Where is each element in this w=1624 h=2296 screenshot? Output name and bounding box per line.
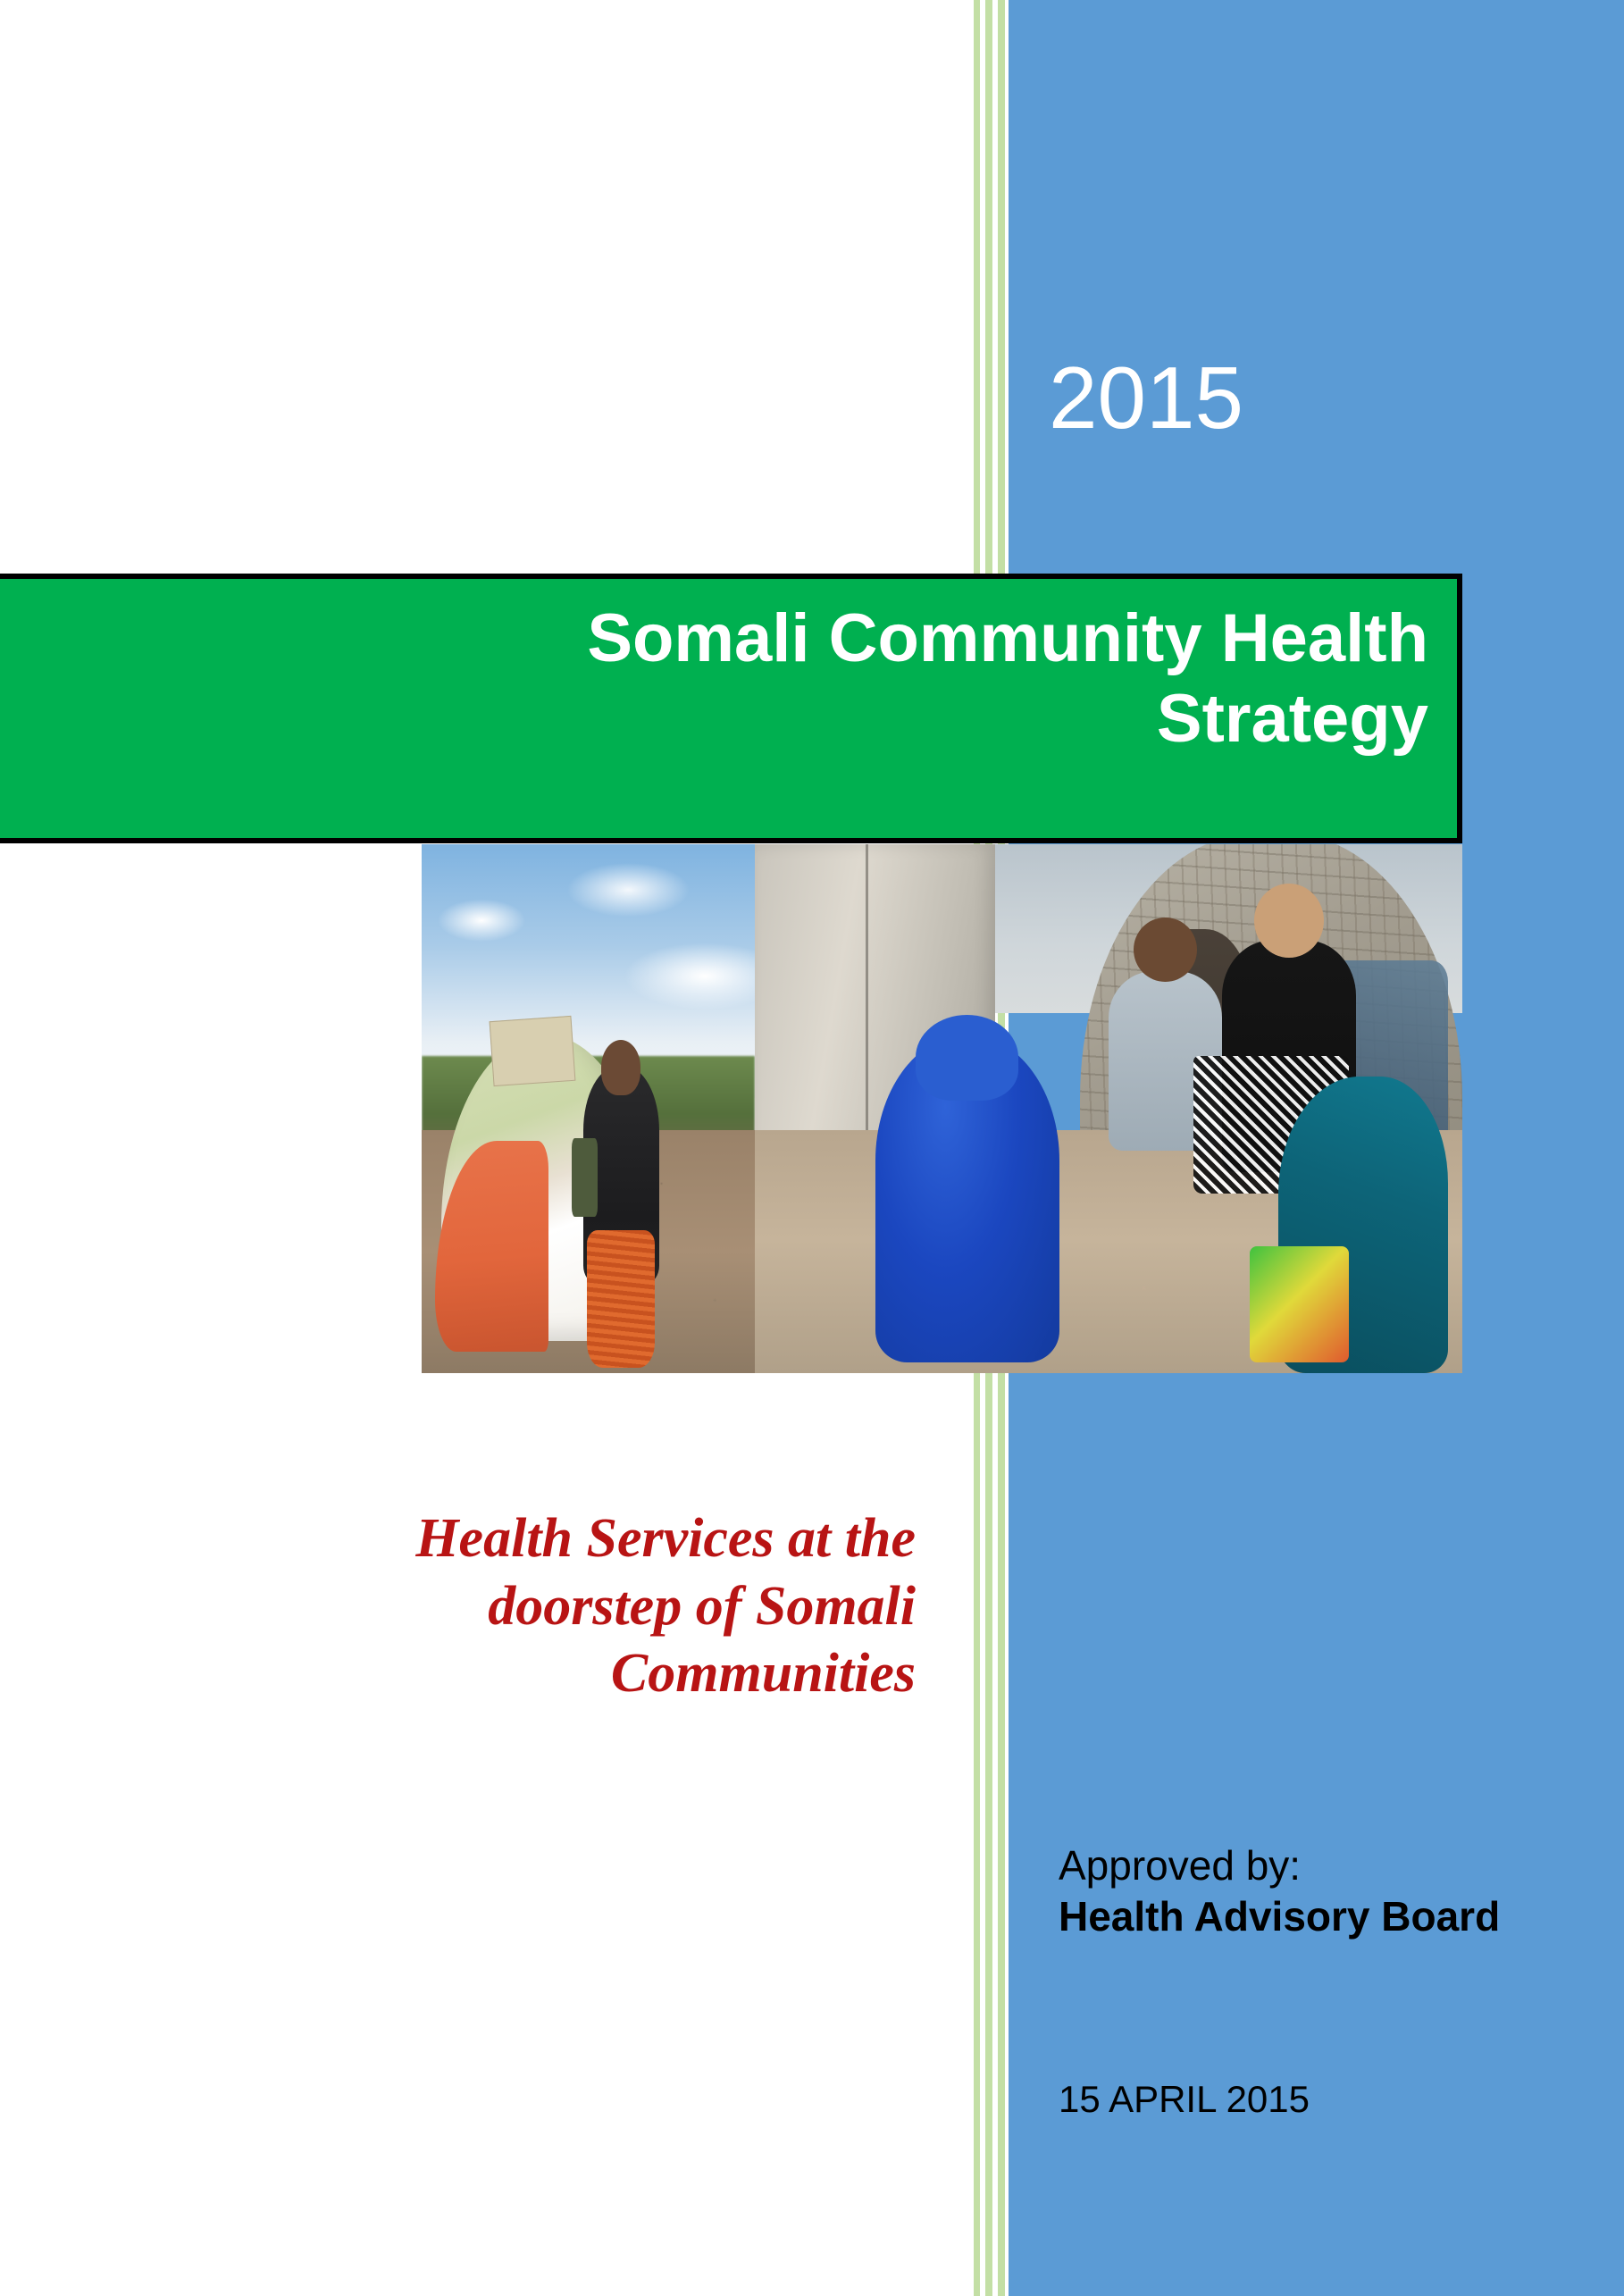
photo-woman-figure bbox=[578, 1040, 665, 1368]
photo-woman-bag bbox=[572, 1138, 598, 1217]
approval-authority: Health Advisory Board bbox=[1059, 1891, 1559, 1942]
document-title: Somali Community Health Strategy bbox=[312, 579, 1457, 758]
document-cover-page: 2015 Somali Community Health Strategy bbox=[0, 0, 1624, 2296]
cover-photo-group bbox=[422, 844, 1462, 1373]
document-year: 2015 bbox=[1009, 354, 1598, 441]
photo-woman-head bbox=[601, 1040, 641, 1095]
document-strapline: Health Services at the doorstep of Somal… bbox=[268, 1505, 916, 1708]
document-date: 15 APRIL 2015 bbox=[1059, 2077, 1559, 2122]
photo-woman-skirt bbox=[587, 1230, 655, 1368]
photo-woman-blue-hijab bbox=[875, 1035, 1059, 1362]
photo-plastic-bag bbox=[1250, 1246, 1349, 1362]
cover-photo-right bbox=[755, 844, 1462, 1373]
title-banner: Somali Community Health Strategy bbox=[0, 574, 1462, 843]
approval-label: Approved by: bbox=[1059, 1840, 1559, 1891]
photo-hut-sign bbox=[490, 1016, 575, 1086]
approval-block: Approved by: Health Advisory Board bbox=[1059, 1840, 1559, 1942]
cover-photo-left bbox=[422, 844, 755, 1373]
